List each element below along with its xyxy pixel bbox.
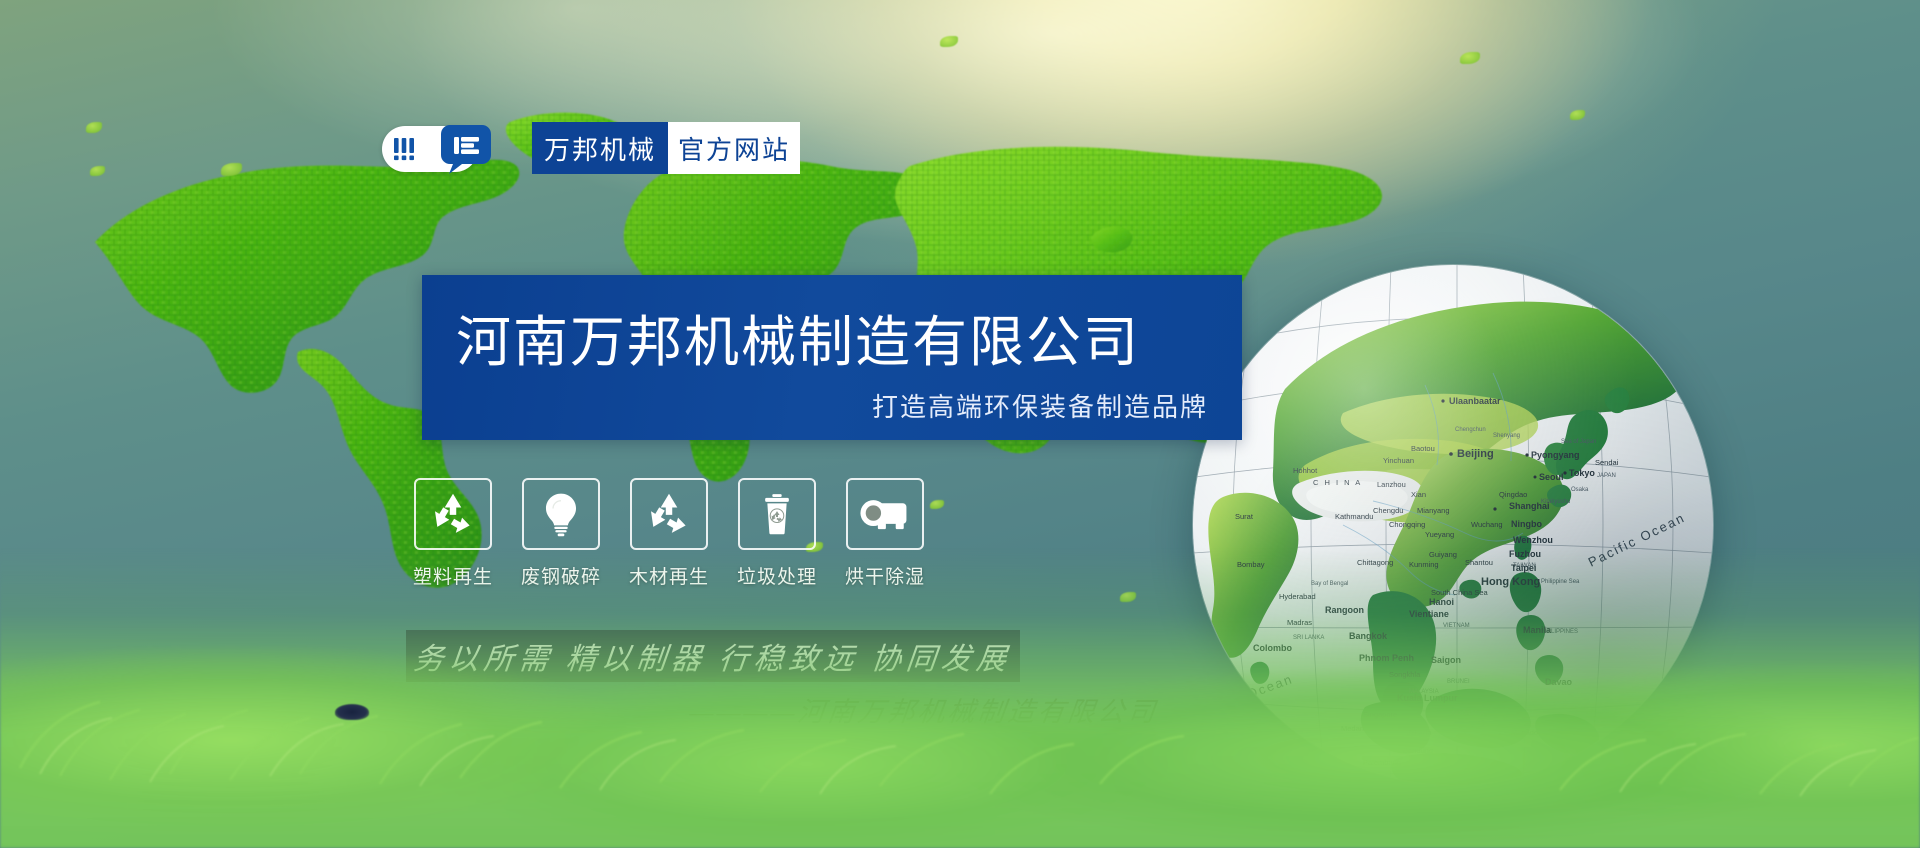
svg-text:Phnom Penh: Phnom Penh	[1359, 653, 1414, 663]
svg-text:Wenzhou: Wenzhou	[1513, 535, 1553, 545]
svg-text:Hyderabad: Hyderabad	[1279, 592, 1316, 601]
service-label: 烘干除湿	[845, 562, 925, 589]
service-icon-box	[630, 478, 708, 550]
service-label: 木材再生	[629, 562, 709, 589]
svg-text:Yinchuan: Yinchuan	[1383, 456, 1414, 465]
earth-globe: Pacific Ocean Indian Ocean South China S…	[1193, 265, 1713, 785]
recycle-icon	[429, 490, 477, 538]
page-subtitle: 打造高端环保装备制造品牌	[872, 387, 1208, 424]
svg-text:C H I N A: C H I N A	[1313, 478, 1362, 487]
svg-text:Chongqing: Chongqing	[1389, 520, 1425, 529]
service-item-scrap-steel-crushing[interactable]: 废钢破碎	[520, 478, 602, 589]
svg-text:Xian: Xian	[1411, 490, 1426, 499]
svg-text:Saigon: Saigon	[1431, 655, 1461, 665]
svg-text:Shantou: Shantou	[1465, 558, 1493, 567]
svg-text:Kathmandu: Kathmandu	[1335, 512, 1373, 521]
service-item-waste-treatment[interactable]: 垃圾处理	[736, 478, 818, 589]
svg-text:Tokyo: Tokyo	[1569, 468, 1595, 478]
svg-text:Philippine Sea: Philippine Sea	[1541, 579, 1580, 585]
svg-text:Wuchang: Wuchang	[1471, 520, 1503, 529]
service-label: 垃圾处理	[737, 562, 817, 589]
svg-text:Shanghai: Shanghai	[1509, 501, 1550, 511]
svg-text:Baotou: Baotou	[1411, 444, 1435, 453]
svg-text:Singapore: Singapore	[1363, 710, 1397, 719]
svg-text:Madras: Madras	[1287, 618, 1312, 627]
slogan-text: 务以所需 精以制器 行稳致远 协同发展	[412, 634, 1014, 678]
svg-text:Kunming: Kunming	[1409, 560, 1439, 569]
svg-text:Seoul: Seoul	[1539, 472, 1564, 482]
svg-text:Bombay: Bombay	[1237, 560, 1265, 569]
svg-text:Qingdao: Qingdao	[1499, 490, 1527, 499]
tab-official-site[interactable]: 官方网站	[668, 122, 800, 174]
tab-company-name[interactable]: 万邦机械	[532, 122, 668, 174]
svg-text:South China Sea: South China Sea	[1431, 588, 1489, 597]
svg-text:Chengdu: Chengdu	[1373, 506, 1403, 515]
svg-text:JAPAN: JAPAN	[1597, 473, 1616, 479]
svg-text:SRI LANKA: SRI LANKA	[1293, 635, 1324, 641]
svg-text:Pyongyang: Pyongyang	[1531, 450, 1580, 460]
svg-text:Lanzhou: Lanzhou	[1377, 480, 1406, 489]
service-icon-row: 塑料再生 废钢破碎	[412, 478, 926, 589]
svg-text:VIETNAM: VIETNAM	[1443, 623, 1470, 629]
svg-text:Colombo: Colombo	[1253, 643, 1292, 653]
svg-text:Medan: Medan	[1341, 724, 1364, 733]
hero-banner: Pacific Ocean Indian Ocean South China S…	[0, 0, 1920, 848]
svg-text:Bay of Bengal: Bay of Bengal	[1311, 581, 1348, 587]
service-icon-box	[846, 478, 924, 550]
svg-text:Chengchun: Chengchun	[1455, 427, 1486, 433]
svg-text:Manila: Manila	[1523, 625, 1552, 635]
svg-text:Guiyang: Guiyang	[1429, 550, 1457, 559]
svg-text:Sea of Japan: Sea of Japan	[1561, 439, 1596, 445]
svg-text:Rangoon: Rangoon	[1325, 605, 1364, 615]
svg-text:Fuzhou: Fuzhou	[1509, 549, 1541, 559]
svg-text:Palembang: Palembang	[1363, 758, 1401, 767]
svg-text:Shenyang: Shenyang	[1493, 433, 1520, 439]
svg-text:Songkhla: Songkhla	[1389, 670, 1421, 679]
tab-official-site-label: 官方网站	[678, 130, 790, 167]
e-speech-bubble-icon[interactable]	[440, 124, 492, 174]
svg-text:Hohhot: Hohhot	[1293, 466, 1318, 475]
trash-bin-recycle-icon	[755, 491, 799, 537]
svg-text:Beijing: Beijing	[1457, 448, 1494, 460]
svg-text:INDONESIA: INDONESIA	[1451, 711, 1484, 717]
tab-company-name-label: 万邦机械	[544, 130, 656, 167]
main-title-banner: 河南万邦机械制造有限公司 打造高端环保装备制造品牌	[422, 275, 1242, 440]
svg-text:Bandung: Bandung	[1403, 746, 1433, 755]
page-title: 河南万邦机械制造有限公司	[456, 297, 1140, 377]
service-label: 废钢破碎	[521, 562, 601, 589]
dryer-blower-icon	[860, 496, 910, 532]
svg-text:Ulaanbaatar: Ulaanbaatar	[1449, 396, 1501, 406]
slogan-bar: 务以所需 精以制器 行稳致远 协同发展	[406, 630, 1020, 682]
w-monogram-icon	[392, 136, 422, 162]
svg-text:Chittagong: Chittagong	[1357, 558, 1393, 567]
recycle-icon	[645, 490, 693, 538]
svg-text:Taipei: Taipei	[1511, 563, 1536, 573]
svg-text:Kuala Lumpur: Kuala Lumpur	[1397, 693, 1458, 703]
svg-text:Ningbo: Ningbo	[1511, 519, 1542, 529]
svg-text:Bangkok: Bangkok	[1349, 631, 1388, 641]
service-item-wood-recycling[interactable]: 木材再生	[628, 478, 710, 589]
svg-text:Hanoi: Hanoi	[1429, 597, 1454, 607]
service-icon-box	[738, 478, 816, 550]
svg-text:Jakarta: Jakarta	[1407, 728, 1432, 737]
service-item-plastic-recycling[interactable]: 塑料再生	[412, 478, 494, 589]
svg-text:Hong Kong: Hong Kong	[1481, 576, 1540, 588]
svg-text:Surat: Surat	[1235, 512, 1254, 521]
svg-text:Mianyang: Mianyang	[1417, 506, 1450, 515]
service-icon-box	[522, 478, 600, 550]
service-label: 塑料再生	[413, 562, 493, 589]
lightbulb-icon	[538, 491, 584, 537]
svg-text:Yueyang: Yueyang	[1425, 530, 1454, 539]
service-item-drying-dehumidify[interactable]: 烘干除湿	[844, 478, 926, 589]
svg-text:Davao: Davao	[1545, 677, 1573, 687]
svg-text:Osaka: Osaka	[1571, 487, 1589, 493]
svg-text:Sendai: Sendai	[1595, 458, 1619, 467]
svg-text:BRUNEI: BRUNEI	[1447, 679, 1470, 685]
svg-text:Manado: Manado	[1511, 728, 1538, 737]
service-icon-box	[414, 478, 492, 550]
slogan-signature: ————河南万邦机械制造有限公司	[688, 690, 1161, 729]
svg-text:Vientiane: Vientiane	[1409, 609, 1449, 619]
